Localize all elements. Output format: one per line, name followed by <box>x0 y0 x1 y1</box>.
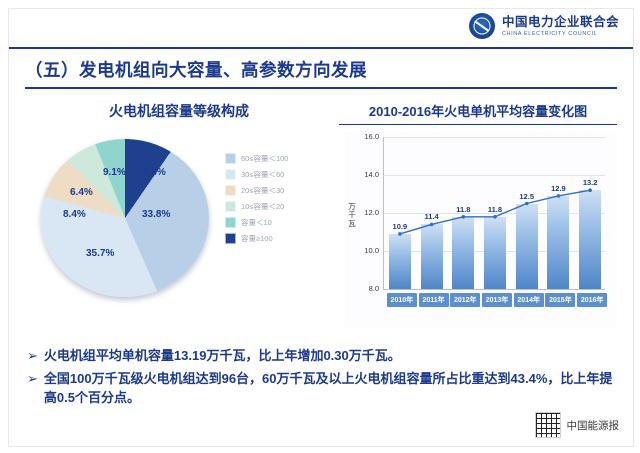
bar-value-label: 11.8 <box>448 205 478 214</box>
legend-swatch-icon <box>225 233 236 244</box>
bullet-arrow-icon: ➢ <box>27 347 38 366</box>
legend-label: 10≤容量＜20 <box>241 201 284 212</box>
x-tick-label: 2013年 <box>482 293 512 307</box>
y-tick-label: 8.0 <box>359 284 379 293</box>
pie-chart-block: 火电机组容量等级构成 9.6% 9.1% 6.4% 8.4% 35.7% 33.… <box>29 101 329 331</box>
pie-label-1: 9.1% <box>103 167 126 178</box>
legend-swatch-icon <box>225 185 236 196</box>
pie-label-2: 6.4% <box>70 187 93 198</box>
y-tick-label: 14.0 <box>359 170 379 179</box>
legend-label: 20≤容量＜30 <box>241 185 284 196</box>
pie-label-5: 33.8% <box>142 209 170 220</box>
bar <box>516 203 538 290</box>
bullet-item: ➢ 火电机组平均单机容量13.19万千瓦，比上年增加0.30万千瓦。 <box>27 347 615 366</box>
legend-swatch-icon <box>225 169 236 180</box>
bar <box>579 189 601 289</box>
bar-chart-plot: 万千瓦 16.014.012.010.08.0 10.911.411.811.8… <box>345 131 617 327</box>
title-divider <box>25 87 617 89</box>
slide-header: 中国电力企业联合会 CHINA ELECTRICITY COUNCIL <box>9 9 633 49</box>
bar-value-label: 11.8 <box>480 205 510 214</box>
y-tick-label: 16.0 <box>359 132 379 141</box>
x-tick-label: 2012年 <box>450 293 480 307</box>
ce-council-logo-icon <box>469 13 495 39</box>
brand-name-en: CHINA ELECTRICITY COUNCIL <box>502 31 619 37</box>
x-tick-label: 2016年 <box>577 293 607 307</box>
footer-block: 中国能源报 <box>535 412 620 438</box>
qr-code-icon <box>535 412 561 438</box>
pie-legend: 60≤容量＜10030≤容量＜6020≤容量＜3010≤容量＜20容量＜10容量… <box>225 153 335 249</box>
bar-chart-block: 2010-2016年火电单机平均容量变化图 万千瓦 16.014.012.010… <box>339 101 617 331</box>
y-tick-label: 12.0 <box>359 208 379 217</box>
legend-label: 30≤容量＜60 <box>241 169 284 180</box>
bar-value-label: 12.9 <box>543 184 573 193</box>
bar-value-label: 10.9 <box>385 222 415 231</box>
bar-chart-yaxis-title: 万千瓦 <box>347 203 357 228</box>
legend-item: 20≤容量＜30 <box>225 185 335 196</box>
bar-value-label: 11.4 <box>417 212 447 221</box>
legend-swatch-icon <box>225 217 236 228</box>
x-tick-label: 2015年 <box>545 293 575 307</box>
legend-item: 容量＜10 <box>225 217 335 228</box>
brand-text: 中国电力企业联合会 CHINA ELECTRICITY COUNCIL <box>502 15 619 37</box>
bar-value-label: 13.2 <box>575 178 605 187</box>
bullet-list: ➢ 火电机组平均单机容量13.19万千瓦，比上年增加0.30万千瓦。 ➢ 全国1… <box>27 347 615 412</box>
bullet-text: 全国100万千瓦级火电机组达到96台，60万千瓦及以上火电机组容量所占比重达到4… <box>44 370 615 408</box>
legend-item: 60≤容量＜100 <box>225 153 335 164</box>
bullet-text: 火电机组平均单机容量13.19万千瓦，比上年增加0.30万千瓦。 <box>44 347 401 366</box>
bullet-arrow-icon: ➢ <box>27 370 38 389</box>
x-tick-label: 2010年 <box>387 293 417 307</box>
slide-canvas: 中国电力企业联合会 CHINA ELECTRICITY COUNCIL （五）发… <box>8 8 634 447</box>
x-tick-label: 2011年 <box>419 293 449 307</box>
bullet-item: ➢ 全国100万千瓦级火电机组达到96台，60万千瓦及以上火电机组容量所占比重达… <box>27 370 615 408</box>
bar <box>547 195 569 289</box>
legend-label: 60≤容量＜100 <box>241 153 288 164</box>
legend-label: 容量＜10 <box>241 217 272 228</box>
legend-item: 容量≥100 <box>225 233 335 244</box>
page-title: （五）发电机组向大容量、高参数方向发展 <box>25 57 615 82</box>
y-tick-label: 10.0 <box>359 246 379 255</box>
x-tick-label: 2014年 <box>514 293 544 307</box>
bar-value-label: 12.5 <box>512 192 542 201</box>
legend-swatch-icon <box>225 153 236 164</box>
brand-name-cn: 中国电力企业联合会 <box>502 15 619 29</box>
bar-chart-title: 2010-2016年火电单机平均容量变化图 <box>339 101 617 125</box>
bar <box>484 216 506 289</box>
legend-item: 30≤容量＜60 <box>225 169 335 180</box>
bar <box>421 223 443 289</box>
legend-item: 10≤容量＜20 <box>225 201 335 212</box>
bar <box>389 233 411 289</box>
bar-chart-x-axis <box>383 289 605 290</box>
pie-chart-title: 火电机组容量等级构成 <box>29 101 329 121</box>
pie-label-0: 9.6% <box>143 167 166 178</box>
brand-block: 中国电力企业联合会 CHINA ELECTRICITY COUNCIL <box>469 13 619 39</box>
footer-label: 中国能源报 <box>567 418 620 433</box>
pie-label-3: 8.4% <box>63 209 86 220</box>
legend-swatch-icon <box>225 201 236 212</box>
bar <box>452 216 474 289</box>
legend-label: 容量≥100 <box>241 233 273 244</box>
pie-chart-area: 9.6% 9.1% 6.4% 8.4% 35.7% 33.8% <box>41 133 216 308</box>
pie-label-4: 35.7% <box>86 248 114 259</box>
